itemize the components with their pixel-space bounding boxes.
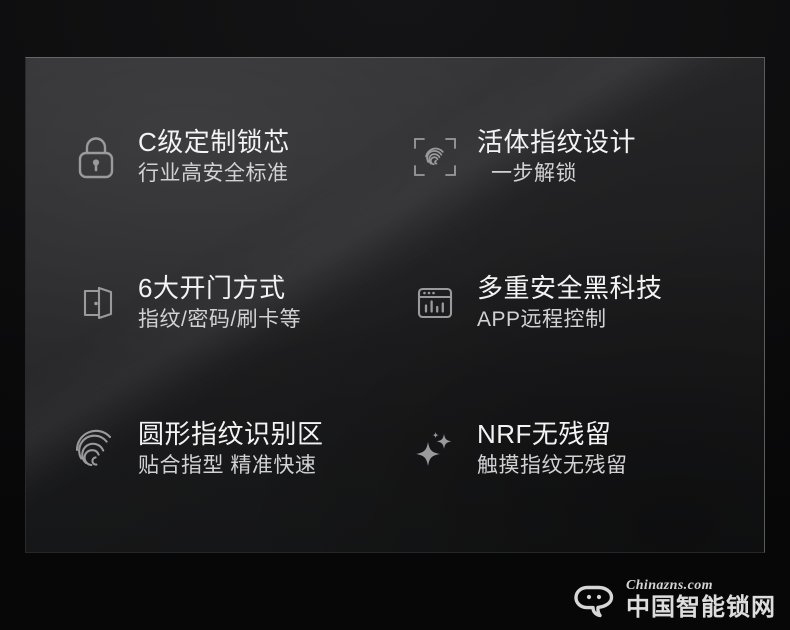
feature-item-live-fingerprint: 活体指纹设计 一步解锁	[397, 84, 746, 230]
feature-item-security-tech: 多重安全黑科技 APP远程控制	[397, 230, 746, 376]
watermark-chinese: 中国智能锁网	[626, 596, 776, 620]
feature-title: 多重安全黑科技	[477, 275, 663, 302]
feature-text: 圆形指纹识别区 贴合指型 精准快速	[138, 421, 324, 477]
feature-subtitle: 贴合指型 精准快速	[138, 455, 324, 477]
feature-title: C级定制锁芯	[138, 129, 290, 156]
feature-text: NRF无残留 触摸指纹无残留	[477, 421, 628, 477]
padlock-icon	[70, 131, 122, 183]
feature-subtitle: 一步解锁	[477, 163, 636, 185]
feature-title: NRF无残留	[477, 421, 628, 448]
feature-panel: C级定制锁芯 行业高安全标准	[25, 57, 765, 553]
feature-title: 圆形指纹识别区	[138, 421, 324, 448]
feature-item-unlock-methods: 6大开门方式 指纹/密码/刷卡等	[48, 230, 397, 376]
open-door-icon	[70, 277, 122, 329]
feature-title: 活体指纹设计	[477, 129, 636, 156]
watermark-latin: Chinazns.com	[626, 579, 776, 593]
feature-text: 活体指纹设计 一步解锁	[477, 129, 636, 185]
chinazns-cloud-logo-icon	[573, 581, 617, 619]
feature-title: 6大开门方式	[138, 275, 301, 302]
feature-grid: C级定制锁芯 行业高安全标准	[26, 58, 764, 552]
watermark: Chinazns.com 中国智能锁网	[573, 579, 776, 620]
feature-text: C级定制锁芯 行业高安全标准	[138, 129, 290, 185]
feature-text: 多重安全黑科技 APP远程控制	[477, 275, 663, 331]
watermark-text: Chinazns.com 中国智能锁网	[626, 579, 776, 620]
fingerprint-scan-icon	[409, 131, 461, 183]
feature-item-lock-core: C级定制锁芯 行业高安全标准	[48, 84, 397, 230]
feature-subtitle: 触摸指纹无残留	[477, 455, 628, 477]
feature-subtitle: 指纹/密码/刷卡等	[138, 309, 301, 331]
feature-item-fingerprint-zone: 圆形指纹识别区 贴合指型 精准快速	[48, 376, 397, 522]
feature-subtitle: 行业高安全标准	[138, 163, 290, 185]
background-stage: C级定制锁芯 行业高安全标准	[0, 0, 790, 630]
sparkle-icon	[409, 423, 461, 475]
feature-subtitle: APP远程控制	[477, 309, 663, 331]
window-chart-icon	[409, 277, 461, 329]
fingerprint-icon	[70, 423, 122, 475]
feature-item-no-residue: NRF无残留 触摸指纹无残留	[397, 376, 746, 522]
feature-text: 6大开门方式 指纹/密码/刷卡等	[138, 275, 301, 331]
